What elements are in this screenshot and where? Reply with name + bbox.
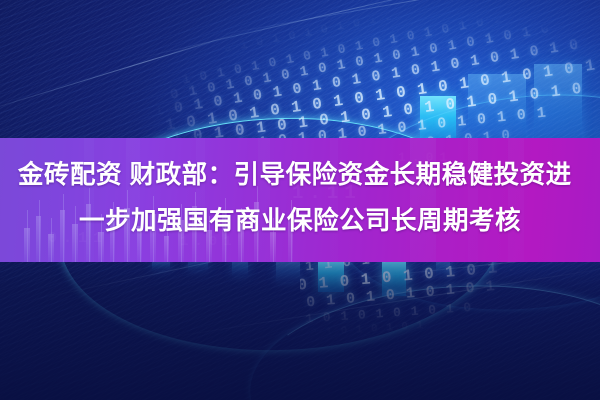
banner-image: 0 1 0 1 0 1 0 1 0 1 0 1 0 1 0 1 0 1 0 1 … — [0, 0, 600, 400]
headline-line-2: 一步加强国有商业保险公司长周期考核 — [18, 198, 582, 244]
headline-line-1: 金砖配资 财政部：引导保险资金长期稳健投资进 — [18, 152, 582, 198]
headline-text: 金砖配资 财政部：引导保险资金长期稳健投资进 一步加强国有商业保险公司长周期考核 — [0, 152, 600, 244]
